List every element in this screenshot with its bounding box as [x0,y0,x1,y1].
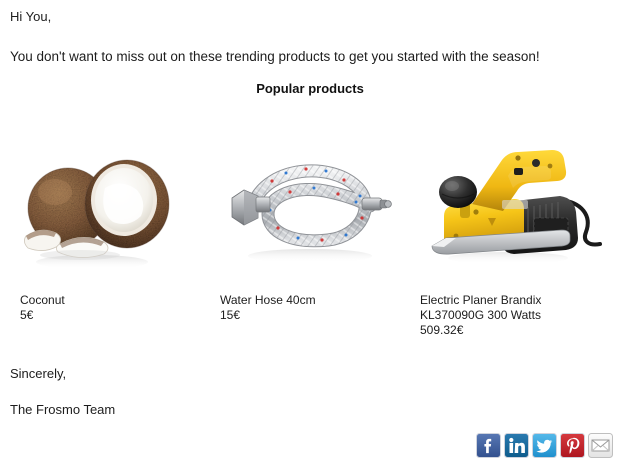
product-info: Water Hose 40cm 15€ [220,293,400,323]
email-body: Hi You, You don't want to miss out on th… [0,0,620,470]
product-name-line-2: KL370090G 300 Watts [420,308,600,323]
product-price: 5€ [20,308,200,323]
social-links [476,433,614,459]
product-info: Coconut 5€ [20,293,200,323]
coconut-photo [10,140,210,270]
product-name-line-1: Electric Planer Brandix [420,293,600,308]
signoff-text: Sincerely, [10,366,66,382]
section-title: Popular products [0,81,620,96]
product-name: Coconut [20,293,200,308]
greeting-text: Hi You, [10,9,51,25]
linkedin-icon[interactable] [504,433,529,458]
twitter-icon[interactable] [532,433,557,458]
electric-planer-photo [410,140,610,270]
product-card-water-hose[interactable]: Water Hose 40cm 15€ [210,140,410,350]
signature-text: The Frosmo Team [10,402,115,418]
water-hose-photo [210,140,410,270]
pinterest-icon[interactable] [560,433,585,458]
email-icon[interactable] [588,433,613,458]
facebook-icon[interactable] [476,433,501,458]
product-list: Coconut 5€ [0,140,620,350]
product-info: Electric Planer Brandix KL370090G 300 Wa… [420,293,600,338]
product-card-coconut[interactable]: Coconut 5€ [10,140,210,350]
product-name: Water Hose 40cm [220,293,400,308]
product-price: 509.32€ [420,323,600,338]
product-price: 15€ [220,308,400,323]
intro-paragraph: You don't want to miss out on these tren… [10,48,540,65]
product-card-electric-planer[interactable]: Electric Planer Brandix KL370090G 300 Wa… [410,140,610,350]
